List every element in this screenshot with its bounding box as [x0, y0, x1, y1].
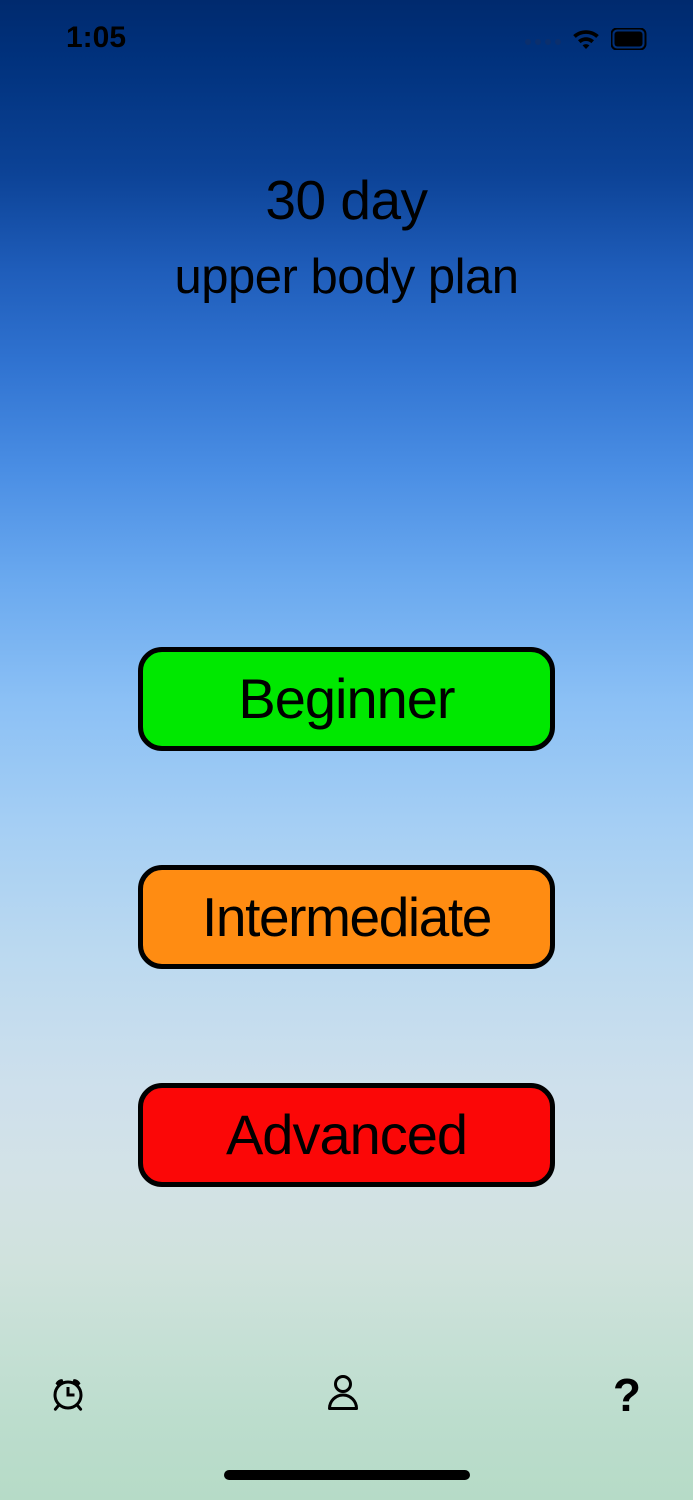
advanced-level-button[interactable]: Advanced	[138, 1083, 555, 1187]
intermediate-level-button[interactable]: Intermediate	[138, 865, 555, 969]
nav-item-alarm[interactable]	[0, 1360, 244, 1430]
beginner-level-button[interactable]: Beginner	[138, 647, 555, 751]
status-bar-time: 1:05	[66, 21, 126, 55]
beginner-level-label: Beginner	[238, 671, 454, 727]
question-mark-icon: ?	[613, 1372, 641, 1418]
page-title: 30 day upper body plan	[0, 168, 693, 307]
signal-dots-icon	[525, 39, 561, 45]
app-screen: 1:05 30 day upper b	[0, 0, 693, 1500]
page-title-line-2: upper body plan	[0, 247, 693, 307]
status-bar-icons	[525, 24, 651, 54]
nav-item-help[interactable]: ?	[443, 1360, 693, 1430]
status-bar: 1:05	[0, 0, 693, 72]
home-indicator	[224, 1470, 470, 1480]
person-icon	[323, 1371, 363, 1420]
intermediate-level-label: Intermediate	[202, 889, 491, 945]
alarm-clock-icon	[46, 1371, 90, 1420]
advanced-level-label: Advanced	[226, 1107, 467, 1163]
battery-full-icon	[611, 28, 651, 50]
wifi-icon	[572, 29, 600, 50]
nav-item-profile[interactable]	[244, 1360, 442, 1430]
page-title-line-1: 30 day	[0, 168, 693, 232]
bottom-navigation-bar: ?	[0, 1360, 693, 1430]
